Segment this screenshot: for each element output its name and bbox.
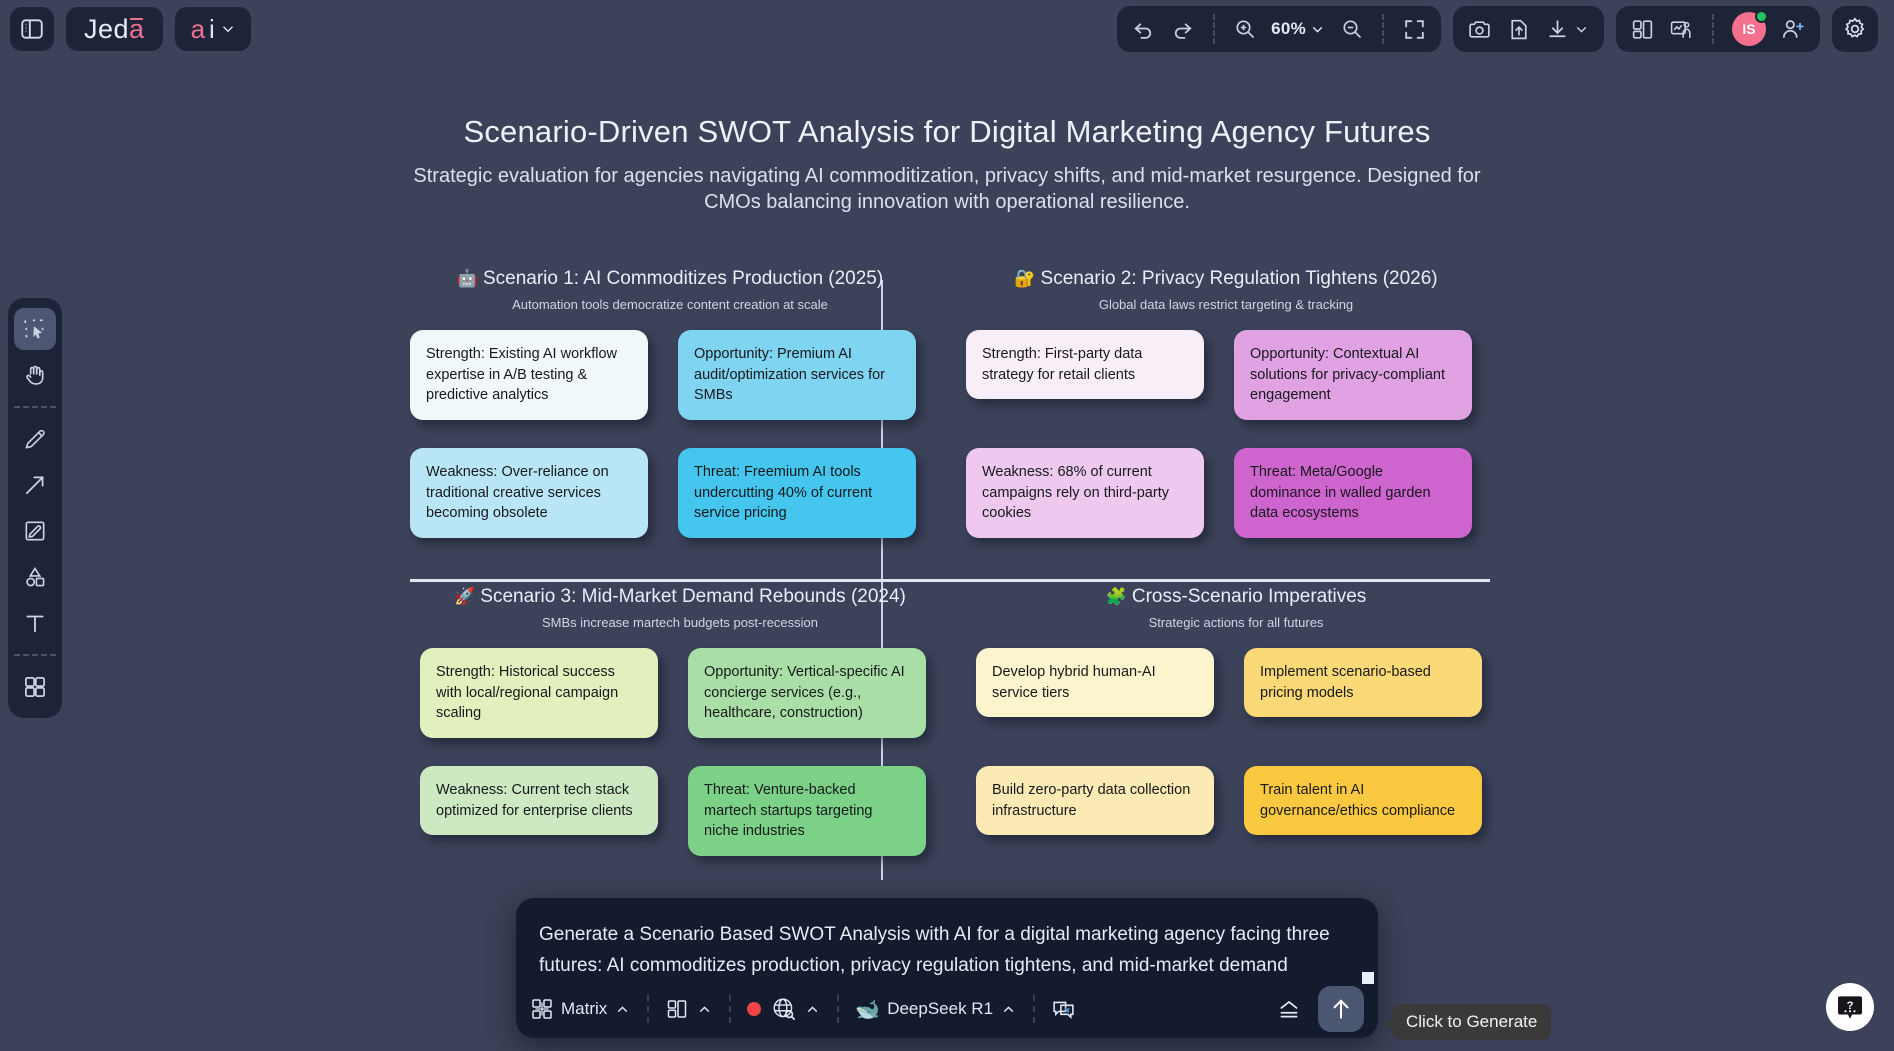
- quadrant-header: 🔐Scenario 2: Privacy Regulation Tightens…: [966, 268, 1486, 312]
- quadrant-cards: Develop hybrid human-AI service tiersImp…: [976, 648, 1496, 868]
- swot-card[interactable]: Strength: Historical success with local/…: [420, 648, 658, 738]
- model-selector-button[interactable]: 🐋 DeepSeek R1: [855, 997, 1017, 1022]
- arrow-tool[interactable]: [14, 464, 56, 506]
- help-icon: ?: [1835, 992, 1865, 1022]
- quadrant-title: 🚀Scenario 3: Mid-Market Demand Rebounds …: [420, 586, 940, 608]
- top-toolbar-right: 60%: [1117, 6, 1894, 52]
- quadrant-emoji-icon: 🔐: [1014, 269, 1035, 288]
- attach-button[interactable]: [1276, 996, 1302, 1022]
- avatar[interactable]: IS: [1732, 12, 1766, 46]
- ai-menu-button[interactable]: ai: [175, 7, 251, 51]
- toolbar-divider: [14, 406, 56, 408]
- text-tool[interactable]: [14, 602, 56, 644]
- quadrant-subtitle: Strategic actions for all futures: [976, 615, 1496, 630]
- page-subtitle: Strategic evaluation for agencies naviga…: [397, 163, 1497, 215]
- export-group: [1453, 6, 1604, 52]
- swot-card[interactable]: Train talent in AI governance/ethics com…: [1244, 766, 1482, 835]
- svg-text:?: ?: [1847, 1000, 1854, 1012]
- chat-close-icon: [1051, 997, 1076, 1022]
- send-button[interactable]: [1318, 986, 1364, 1032]
- select-tool[interactable]: [14, 308, 56, 350]
- swot-card[interactable]: Threat: Meta/Google dominance in walled …: [1234, 448, 1472, 538]
- matrix-icon: [530, 997, 554, 1021]
- chevron-down-icon: [219, 20, 237, 38]
- brand-accent: a: [129, 14, 145, 45]
- settings-button[interactable]: [1832, 6, 1878, 52]
- quadrant-emoji-icon: 🤖: [457, 269, 478, 288]
- swot-card[interactable]: Weakness: Current tech stack optimized f…: [420, 766, 658, 835]
- swot-card[interactable]: Strength: First-party data strategy for …: [966, 330, 1204, 399]
- zoom-in-button[interactable]: [1233, 17, 1257, 41]
- prompt-toolbar: Matrix 🐋: [516, 980, 1378, 1038]
- model-label: DeepSeek R1: [887, 999, 993, 1019]
- quadrant-subtitle: Global data laws restrict targeting & tr…: [966, 297, 1486, 312]
- avatar-initials: IS: [1742, 21, 1755, 37]
- brand-logo[interactable]: Jeda: [66, 7, 163, 51]
- shapes-tool[interactable]: [14, 556, 56, 598]
- chevron-down-icon: [1309, 21, 1326, 38]
- quadrant-title: 🔐Scenario 2: Privacy Regulation Tightens…: [966, 268, 1486, 290]
- swot-card[interactable]: Threat: Freemium AI tools undercutting 4…: [678, 448, 916, 538]
- matrix-mode-label: Matrix: [561, 999, 607, 1019]
- swot-card[interactable]: Weakness: 68% of current campaigns rely …: [966, 448, 1204, 538]
- quadrant-title-label: Scenario 3: Mid-Market Demand Rebounds (…: [480, 586, 906, 607]
- undo-button[interactable]: [1131, 17, 1156, 42]
- quadrant-title-label: Scenario 2: Privacy Regulation Tightens …: [1041, 268, 1438, 289]
- chevron-up-icon: [696, 1001, 713, 1018]
- history-zoom-group: 60%: [1117, 6, 1441, 52]
- sidebar-toggle-button[interactable]: [10, 7, 54, 51]
- layout-button[interactable]: [1630, 17, 1655, 42]
- prompt-divider: [1033, 995, 1035, 1023]
- quadrant-subtitle: Automation tools democratize content cre…: [410, 297, 930, 312]
- swot-card[interactable]: Opportunity: Contextual AI solutions for…: [1234, 330, 1472, 420]
- top-toolbar: Jeda ai 60%: [0, 0, 1894, 58]
- swot-card[interactable]: Opportunity: Vertical-specific AI concie…: [688, 648, 926, 738]
- toolbar-divider: [14, 654, 56, 656]
- online-status-dot: [1755, 10, 1768, 23]
- quadrant-header: 🚀Scenario 3: Mid-Market Demand Rebounds …: [420, 586, 940, 630]
- download-button[interactable]: [1545, 17, 1590, 42]
- quadrant-header: 🧩Cross-Scenario ImperativesStrategic act…: [976, 586, 1496, 630]
- prompt-divider: [729, 995, 731, 1023]
- pencil-tool[interactable]: [14, 418, 56, 460]
- upload-button[interactable]: [1506, 17, 1531, 42]
- help-button[interactable]: ?: [1826, 983, 1874, 1031]
- web-search-button[interactable]: [771, 996, 821, 1022]
- brand-text: Jed: [84, 14, 129, 45]
- record-button[interactable]: [747, 1002, 761, 1016]
- zoom-out-button[interactable]: [1340, 17, 1364, 41]
- prompt-divider: [837, 995, 839, 1023]
- quadrant-emoji-icon: 🧩: [1106, 587, 1127, 606]
- quadrant-title-label: Cross-Scenario Imperatives: [1132, 586, 1366, 607]
- hand-tool[interactable]: [14, 354, 56, 396]
- globe-search-icon: [771, 996, 797, 1022]
- quadrant-title: 🧩Cross-Scenario Imperatives: [976, 586, 1496, 608]
- zoom-level-dropdown[interactable]: 60%: [1271, 19, 1326, 39]
- quadrant-cards: Strength: Existing AI workflow expertise…: [410, 330, 930, 550]
- quadrant-title-label: Scenario 1: AI Commoditizes Production (…: [483, 268, 883, 289]
- swot-card[interactable]: Develop hybrid human-AI service tiers: [976, 648, 1214, 717]
- clear-chat-button[interactable]: [1051, 997, 1076, 1022]
- present-button[interactable]: [1669, 17, 1694, 42]
- redo-button[interactable]: [1170, 17, 1195, 42]
- quadrant-scenario-2: 🔐Scenario 2: Privacy Regulation Tightens…: [966, 268, 1486, 550]
- image-tool[interactable]: [14, 510, 56, 552]
- toolbar-divider: [1382, 14, 1384, 44]
- fit-screen-button[interactable]: [1402, 17, 1427, 42]
- quadrant-cross-scenario: 🧩Cross-Scenario ImperativesStrategic act…: [976, 586, 1496, 868]
- zoom-level-label: 60%: [1271, 19, 1306, 39]
- matrix-horizontal-divider: [410, 579, 1490, 582]
- prompt-divider: [647, 995, 649, 1023]
- top-toolbar-left: Jeda ai: [0, 7, 251, 51]
- invite-user-button[interactable]: [1780, 16, 1806, 42]
- grid-tool[interactable]: [14, 666, 56, 708]
- quadrant-cards: Strength: Historical success with local/…: [420, 648, 940, 868]
- collaborate-group: IS: [1616, 6, 1820, 52]
- quadrant-header: 🤖Scenario 1: AI Commoditizes Production …: [410, 268, 930, 312]
- swot-card[interactable]: Threat: Venture-backed martech startups …: [688, 766, 926, 856]
- chevron-up-icon: [804, 1001, 821, 1018]
- swot-matrix: 🤖Scenario 1: AI Commoditizes Production …: [410, 268, 1490, 928]
- quadrant-scenario-3: 🚀Scenario 3: Mid-Market Demand Rebounds …: [420, 586, 940, 868]
- quadrant-title: 🤖Scenario 1: AI Commoditizes Production …: [410, 268, 930, 290]
- ai-menu-label: i: [209, 14, 215, 45]
- ai-menu-accent: a: [191, 14, 205, 45]
- deepseek-whale-icon: 🐋: [855, 997, 880, 1022]
- chevron-up-icon: [1000, 1001, 1017, 1018]
- left-toolbar: [8, 298, 62, 718]
- quadrant-emoji-icon: 🚀: [454, 587, 475, 606]
- chevron-down-icon: [1573, 21, 1590, 38]
- quadrant-subtitle: SMBs increase martech budgets post-reces…: [420, 615, 940, 630]
- swot-card[interactable]: Opportunity: Premium AI audit/optimizati…: [678, 330, 916, 420]
- swot-card[interactable]: Build zero-party data collection infrast…: [976, 766, 1214, 835]
- matrix-mode-button[interactable]: Matrix: [530, 997, 631, 1021]
- swot-card[interactable]: Implement scenario-based pricing models: [1244, 648, 1482, 717]
- toolbar-divider: [1213, 14, 1215, 44]
- page-title: Scenario-Driven SWOT Analysis for Digita…: [0, 114, 1894, 150]
- chevron-up-icon: [614, 1001, 631, 1018]
- prompt-bar: Generate a Scenario Based SWOT Analysis …: [516, 898, 1378, 1038]
- generate-tooltip: Click to Generate: [1392, 1004, 1551, 1040]
- quadrant-cards: Strength: First-party data strategy for …: [966, 330, 1486, 550]
- swot-card[interactable]: Weakness: Over-reliance on traditional c…: [410, 448, 648, 538]
- quadrant-scenario-1: 🤖Scenario 1: AI Commoditizes Production …: [410, 268, 930, 550]
- screenshot-button[interactable]: [1467, 17, 1492, 42]
- record-dot-icon: [747, 1002, 761, 1016]
- layout-options-button[interactable]: [665, 997, 713, 1021]
- swot-card[interactable]: Strength: Existing AI workflow expertise…: [410, 330, 648, 420]
- layout-icon: [665, 997, 689, 1021]
- toolbar-divider: [1712, 14, 1714, 44]
